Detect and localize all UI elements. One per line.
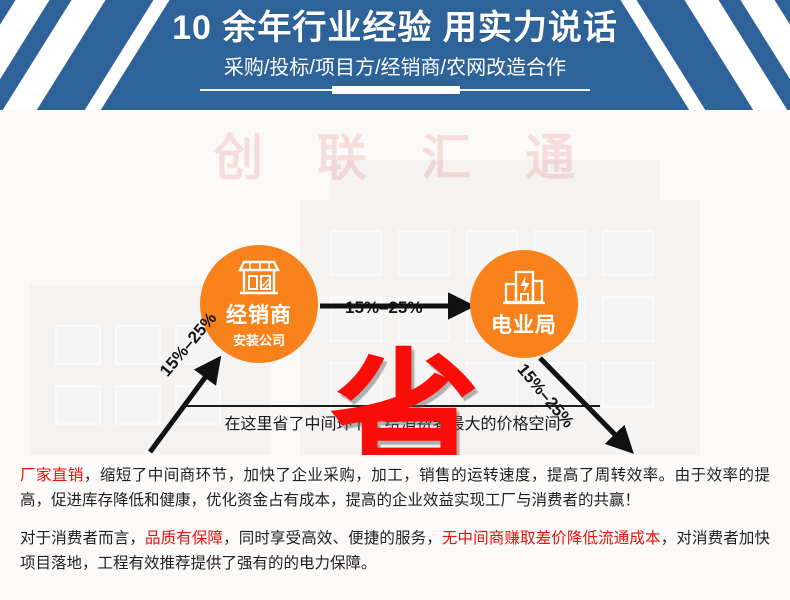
node-dealer-sublabel: 安装公司 — [233, 330, 285, 349]
footer-paragraph-2-seg1: 对于消费者而言， — [20, 530, 145, 547]
footer-paragraph-1-text: ，缩短了中间商环节，加快了企业采购，加工，销售的运转速度，提高了周转效率。由于效… — [20, 467, 770, 509]
footer-paragraph-1: 厂家直销，缩短了中间商环节，加快了企业采购，加工，销售的运转速度，提高了周转效率… — [20, 463, 770, 513]
header-divider — [200, 85, 590, 95]
node-power-bureau[interactable]: 电业局 — [470, 250, 578, 358]
footer-description: 厂家直销，缩短了中间商环节，加快了企业采购，加工，销售的运转速度，提高了周转效率… — [0, 455, 790, 600]
power-building-icon — [502, 270, 546, 306]
footer-highlight-direct-sale: 厂家直销 — [20, 467, 84, 484]
footer-paragraph-2: 对于消费者而言，品质有保障，同时享受高效、便捷的服务，无中间商赚取差价降低流通成… — [20, 526, 770, 576]
header-subtitle: 采购/投标/项目方/经销商/农网改造合作 — [224, 51, 566, 80]
node-dealer-label: 经销商 — [226, 299, 292, 329]
page-header: 10 余年行业经验 用实力说话 采购/投标/项目方/经销商/农网改造合作 — [0, 0, 790, 110]
node-dealer[interactable]: 经销商 安装公司 — [200, 245, 318, 363]
node-power-bureau-label: 电业局 — [491, 309, 557, 339]
footer-paragraph-2-seg2: ，同时享受高效、便捷的服务， — [223, 530, 442, 547]
diagram-stage: 创 联 汇 通 15%–25% 15%–25% 15%–25% 省 — [0, 110, 790, 455]
storefront-icon — [236, 259, 282, 297]
header-title: 10 余年行业经验 用实力说话 — [172, 10, 618, 47]
arrow-label-dealer-to-bureau: 15%–25% — [345, 298, 423, 318]
footer-highlight-quality: 品质有保障 — [145, 530, 223, 547]
savings-character: 省 — [330, 348, 480, 455]
footer-highlight-no-middleman: 无中间商赚取差价降低流通成本 — [442, 530, 661, 547]
